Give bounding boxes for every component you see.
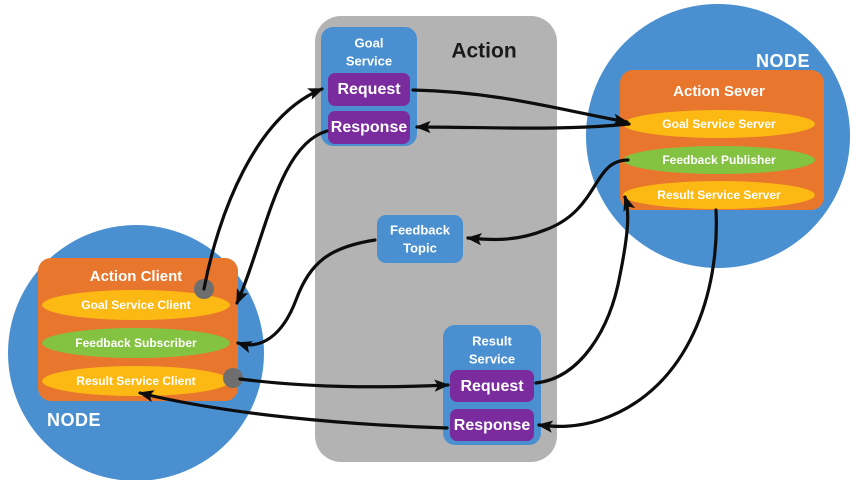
feedback-topic-title-line1: Feedback <box>390 222 451 237</box>
ros2-action-diagram: Action NODE Action Client Goal Service C… <box>0 0 854 480</box>
result-service[interactable]: Result Service Request Response <box>443 325 541 445</box>
result-service-title-line1: Result <box>472 333 512 348</box>
pill-goal-service-server-label: Goal Service Server <box>662 117 776 131</box>
feedback-topic-title-line2: Topic <box>403 240 437 255</box>
pill-feedback-publisher-label: Feedback Publisher <box>662 153 776 167</box>
pill-goal-service-client-label: Goal Service Client <box>81 298 190 312</box>
goal-service-title-line2: Service <box>346 53 392 68</box>
goal-service-request-label: Request <box>337 81 401 98</box>
pill-result-service-server-label: Result Service Server <box>657 188 781 202</box>
pill-result-service-client-label: Result Service Client <box>76 374 195 388</box>
server-node[interactable]: NODE Action Sever Goal Service Server Fe… <box>586 4 850 268</box>
action-server-label: Action Sever <box>673 83 765 100</box>
action-client-label: Action Client <box>90 268 183 285</box>
action-group-label: Action <box>451 40 516 63</box>
client-node[interactable]: NODE Action Client Goal Service Client F… <box>8 225 264 480</box>
pill-feedback-subscriber-label: Feedback Subscriber <box>75 336 197 350</box>
result-service-request-label: Request <box>460 378 524 395</box>
goal-service-title-line1: Goal <box>355 35 384 50</box>
result-service-title-line2: Service <box>469 351 515 366</box>
result-service-response-label: Response <box>454 417 531 434</box>
client-node-label: NODE <box>47 410 101 430</box>
goal-service-response-label: Response <box>331 119 408 136</box>
diagram-canvas: Action NODE Action Client Goal Service C… <box>0 0 854 480</box>
goal-service[interactable]: Goal Service Request Response <box>321 27 417 146</box>
feedback-topic[interactable]: Feedback Topic <box>377 215 463 263</box>
server-node-label: NODE <box>756 51 810 71</box>
